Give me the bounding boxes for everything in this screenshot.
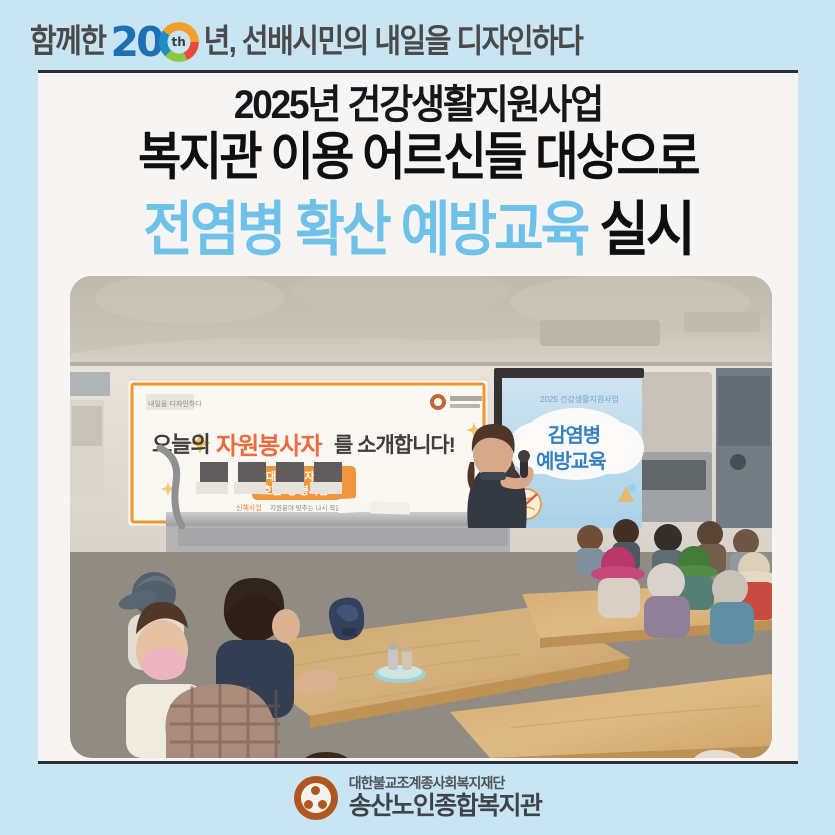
- headline-highlight: 전염병 확산 예방교육: [143, 197, 587, 263]
- event-photo-illustration: 내일을 디자인하다 오늘의 자원봉사자 를 소개합니다!: [70, 276, 772, 758]
- anniversary-suffix: th: [159, 22, 199, 62]
- foundation-logo-icon: [294, 776, 338, 820]
- event-photo: 내일을 디자인하다 오늘의 자원봉사자 를 소개합니다!: [70, 276, 772, 758]
- logo-dot-left: [304, 800, 313, 809]
- page-headline: 전염병 확산 예방교육 실시: [38, 198, 798, 262]
- tagline-prefix: 함께한: [30, 26, 106, 58]
- logo-dot-top: [311, 786, 320, 795]
- poster-root: 함께한 20 th 년, 선배시민의 내일을 디자인하다 2025년 건강생활지…: [0, 0, 835, 835]
- foundation-name: 대한불교조계종사회복지재단: [349, 775, 542, 791]
- footer-branding: 대한불교조계종사회복지재단 송산노인종합복지관: [0, 775, 835, 821]
- tagline-suffix: 년, 선배시민의 내일을 디자인하다: [204, 26, 583, 58]
- logo-inner-circle: [301, 783, 331, 813]
- anniversary-20th-logo: 20 th: [111, 20, 199, 64]
- anniversary-number: 20: [111, 22, 162, 63]
- content-card: 2025년 건강생활지원사업 복지관 이용 어르신들 대상으로 전염병 확산 예…: [38, 70, 798, 764]
- anniversary-ring-icon: th: [159, 22, 199, 62]
- title-block: 2025년 건강생활지원사업 복지관 이용 어르신들 대상으로 전염병 확산 예…: [38, 85, 798, 259]
- logo-dot-right: [318, 800, 327, 809]
- page-subtitle: 2025년 건강생활지원사업: [38, 83, 798, 126]
- header-tagline: 함께한 20 th 년, 선배시민의 내일을 디자인하다: [30, 18, 810, 66]
- page-title: 복지관 이용 어르신들 대상으로: [38, 128, 798, 185]
- headline-rest: 실시: [599, 197, 692, 263]
- footer-text: 대한불교조계종사회복지재단 송산노인종합복지관: [349, 775, 542, 821]
- center-name: 송산노인종합복지관: [349, 792, 542, 821]
